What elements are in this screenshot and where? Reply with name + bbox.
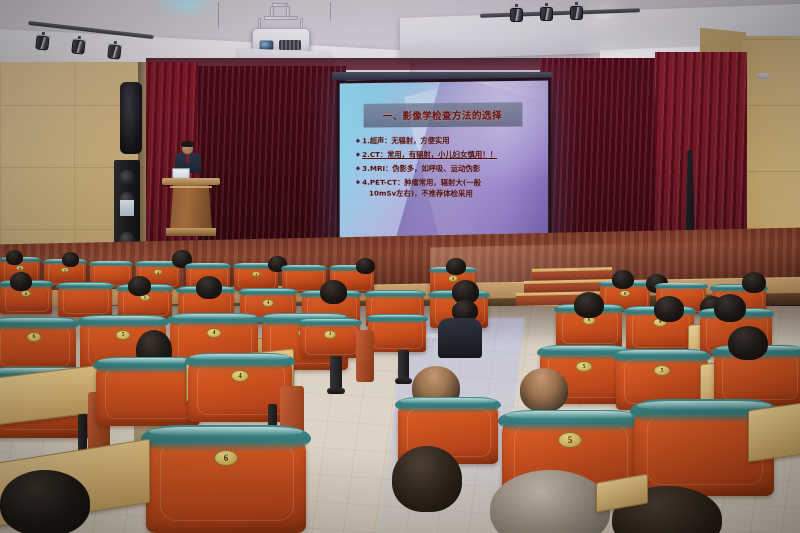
slide-title: 一、影像学检查方法的选择 — [364, 102, 522, 127]
slide-body: ◆ 1.超声：无辐射，方便实用 ◆ 2.CT：常用，有辐射，小儿妇女慎用！！ ◆… — [356, 134, 544, 202]
audience-head — [392, 446, 462, 506]
seat-number-plate: 4 — [207, 328, 222, 338]
slide-line-text: 3.MRI：伪影多，如呼吸、运动伪影 — [362, 163, 480, 174]
audience-head — [6, 250, 23, 265]
seat[interactable]: 6 — [146, 430, 306, 533]
seat[interactable] — [96, 360, 200, 426]
bullet-icon: ◆ — [356, 163, 360, 174]
slide-bullet-line: ◆ 2.CT：常用，有辐射，小儿妇女慎用！！ — [356, 149, 544, 160]
audience-head — [356, 258, 375, 274]
podium — [166, 178, 216, 236]
seat-number-plate: 4 — [262, 299, 274, 307]
seat-number-plate: 6 — [16, 265, 25, 271]
audience-head — [196, 276, 222, 299]
audience-head — [742, 272, 766, 293]
seat-pedestal — [330, 356, 342, 390]
slide-line-subtext: 10mSv左右)，不推荐体检采用 — [362, 187, 481, 199]
left-rigging-fixture — [120, 82, 142, 154]
seat-number-plate: 5 — [576, 361, 593, 372]
audience-head — [612, 270, 634, 289]
seat-number-plate: 8 — [620, 290, 631, 297]
audience-head — [520, 368, 568, 412]
seat-armrest-panel — [356, 330, 374, 382]
seat[interactable]: 3 — [300, 320, 360, 358]
audience-head — [10, 272, 32, 291]
seat-number-plate: 5 — [654, 365, 671, 376]
auditorium-scene: 一、影像学检查方法的选择 ◆ 1.超声：无辐射，方便实用 ◆ 2.CT：常用，有… — [0, 0, 800, 533]
seat-number-plate: 3 — [252, 271, 261, 277]
spotlight-icon — [35, 31, 50, 52]
seat-number-plate: 5 — [61, 267, 70, 273]
slide-line-text: 2.CT：常用，有辐射，小儿妇女慎用！！ — [362, 149, 497, 160]
ceiling-wire — [330, 2, 331, 20]
seat[interactable] — [368, 316, 426, 352]
smoke-detector-icon — [757, 73, 770, 79]
audience-torso — [438, 318, 482, 358]
seat[interactable]: 6 — [0, 320, 76, 372]
slide-line-text: 4.PET-CT：肿瘤常用，辐射大(一般 — [362, 178, 481, 187]
seat-number-plate: 5 — [558, 432, 582, 448]
audience-head — [728, 326, 768, 360]
slide-bullet-line: ◆ 3.MRI：伪影多，如呼吸、运动伪影 — [356, 163, 544, 174]
spotlight-icon — [71, 35, 86, 56]
slide-bullet-line: ◆ 4.PET-CT：肿瘤常用，辐射大(一般 10mSv左右)，不推荐体检采用 — [356, 177, 544, 200]
seat-number-plate: 6 — [27, 332, 42, 342]
bullet-icon: ◆ — [356, 135, 360, 146]
slide-line-text: 1.超声：无辐射，方便实用 — [362, 135, 449, 146]
spotlight-icon — [107, 40, 122, 61]
bullet-icon: ◆ — [356, 177, 360, 188]
seat-number-plate: 6 — [214, 450, 238, 466]
slide-bullet-line: ◆ 1.超声：无辐射，方便实用 — [356, 134, 544, 146]
audience-member-gray-hair — [490, 470, 610, 533]
audience-head — [128, 276, 151, 296]
spotlight-icon — [510, 4, 523, 24]
ceiling-wire — [218, 2, 219, 28]
audience-head — [320, 280, 347, 304]
slide-surface: 一、影像学检查方法的选择 ◆ 1.超声：无辐射，方便实用 ◆ 2.CT：常用，有… — [340, 81, 549, 244]
seat-number-plate: 4 — [154, 269, 163, 275]
audience-head — [446, 258, 466, 275]
projection-screen[interactable]: 一、影像学检查方法的选择 ◆ 1.超声：无辐射，方便实用 ◆ 2.CT：常用，有… — [337, 77, 551, 246]
seat-pedestal — [398, 350, 409, 380]
bullet-icon: ◆ — [356, 149, 360, 160]
projector-mount — [258, 3, 304, 30]
spotlight-icon — [540, 3, 553, 23]
audience-head — [0, 470, 90, 533]
ceiling-glow — [150, 0, 220, 18]
audience-head — [574, 292, 604, 318]
folding-tray-table[interactable] — [748, 402, 800, 462]
speaker-panel-label — [120, 200, 134, 216]
seat-number-plate: 4 — [231, 370, 249, 382]
seat-number-plate: 3 — [324, 330, 337, 339]
seat-number-plate: 6 — [21, 290, 32, 297]
audience-head — [654, 296, 684, 322]
audience-head — [62, 252, 79, 267]
spotlight-icon — [570, 2, 583, 22]
projector-vent — [279, 40, 301, 50]
audience-head — [714, 294, 746, 322]
seat[interactable] — [58, 284, 112, 317]
